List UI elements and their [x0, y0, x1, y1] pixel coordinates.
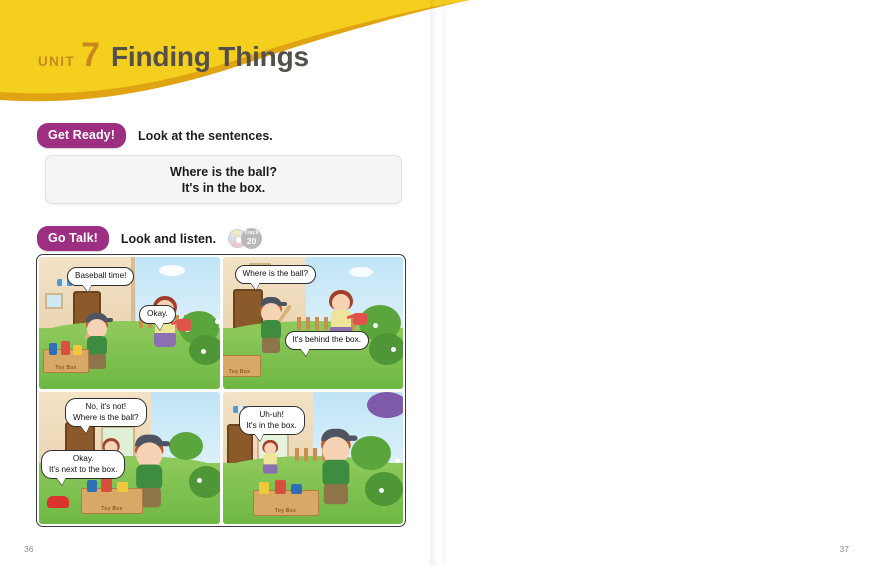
toy: [73, 345, 82, 355]
speech-bubble: It's behind the box.: [285, 331, 369, 350]
track-number: 20: [247, 237, 256, 246]
cloud: [159, 265, 185, 276]
audio-track-icon[interactable]: Track 20: [228, 228, 262, 249]
mother-character: [261, 438, 274, 464]
bush: [367, 392, 404, 418]
left-page: UNIT 7 Finding Things Get Ready! Look at…: [0, 0, 437, 566]
book-spread: UNIT 7 Finding Things Get Ready! Look at…: [0, 0, 873, 566]
toy: [87, 480, 97, 492]
get-ready-badge: Get Ready!: [37, 123, 126, 148]
toy: [61, 341, 70, 355]
speech-bubble: Okay. It's next to the box.: [41, 450, 125, 479]
comic-strip: Baseball time! Okay.: [36, 254, 406, 527]
right-page: Today's Words Listen and say. Track 21: [437, 0, 873, 566]
flower: [373, 323, 378, 328]
comic-panel-1: Baseball time! Okay.: [39, 257, 220, 389]
toy-car: [47, 496, 69, 508]
bush: [189, 466, 220, 498]
toy: [291, 484, 302, 494]
unit-label: UNIT: [38, 54, 75, 69]
go-talk-section-header: Go Talk! Look and listen. Track 20: [37, 226, 262, 251]
flower: [215, 319, 220, 324]
page-number-right: 37: [840, 544, 849, 554]
cloud: [349, 267, 373, 277]
toy: [101, 478, 112, 492]
go-talk-badge: Go Talk!: [37, 226, 109, 251]
speech-bubble: Where is the ball?: [235, 265, 317, 284]
example-sentence-1: Where is the ball?: [170, 165, 277, 179]
speech-bubble: Okay.: [139, 305, 176, 324]
flower: [197, 478, 202, 483]
flower: [391, 347, 396, 352]
example-sentence-box: Where is the ball? It's in the box.: [45, 155, 402, 204]
toy: [259, 482, 269, 494]
unit-title: UNIT 7 Finding Things: [38, 38, 309, 72]
toy: [49, 343, 57, 355]
toy: [117, 482, 128, 492]
flower: [379, 488, 384, 493]
speech-bubble: Baseball time!: [67, 267, 134, 286]
comic-panel-4: Uh-uh! It's in the box.: [223, 392, 404, 524]
toy: [275, 480, 286, 494]
get-ready-section-header: Get Ready! Look at the sentences.: [37, 123, 273, 148]
example-sentence-2: It's in the box.: [182, 181, 266, 195]
speech-bubble: Uh-uh! It's in the box.: [239, 406, 305, 435]
get-ready-instruction: Look at the sentences.: [138, 129, 273, 143]
flower: [395, 458, 400, 463]
unit-number: 7: [81, 38, 100, 72]
speech-bubble: No, it's not! Where is the ball?: [65, 398, 147, 427]
watering-can: [353, 313, 367, 325]
watering-can: [177, 319, 191, 331]
comic-panel-3: No, it's not! Where is the ball? Okay. I…: [39, 392, 220, 524]
boy-character: [317, 426, 374, 524]
flower: [201, 349, 206, 354]
toy-box: [223, 355, 261, 377]
bush: [369, 333, 404, 365]
unit-name: Finding Things: [111, 43, 309, 71]
page-number-left: 36: [24, 544, 33, 554]
boy-character: [257, 295, 287, 359]
window: [45, 293, 63, 309]
track-number-badge: Track 20: [241, 228, 262, 249]
comic-panel-2: Where is the ball? It's behind the box.: [223, 257, 404, 389]
go-talk-instruction: Look and listen.: [121, 232, 216, 246]
